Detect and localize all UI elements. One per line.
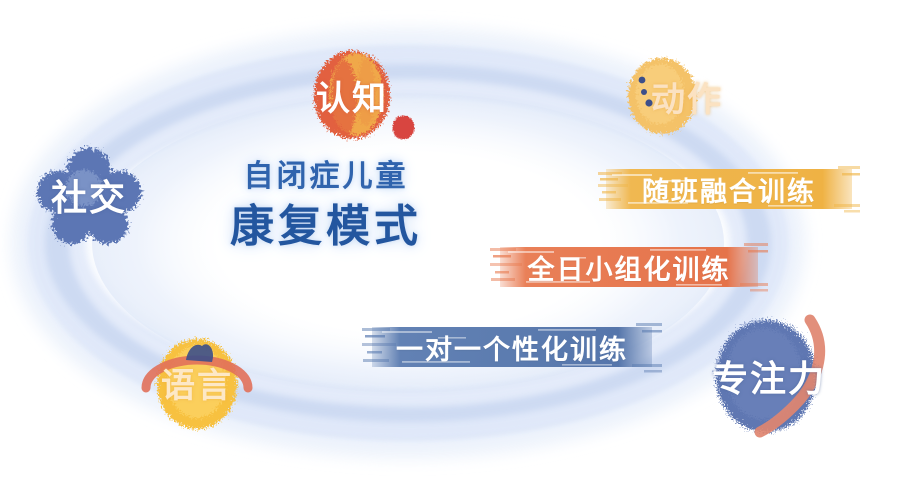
infographic-canvas: 自闭症儿童 康复模式 (0, 0, 900, 495)
banner-label: 随班融合训练 (642, 170, 816, 209)
node-social[interactable]: 社交 (26, 140, 152, 250)
node-attention[interactable]: 专注力 (698, 310, 840, 442)
banner-label: 一对一个性化训练 (396, 328, 628, 367)
banner-fullday-group-training[interactable]: 全日小组化训练 (490, 238, 768, 296)
node-label: 认知 (316, 71, 388, 120)
node-label: 社交 (51, 169, 127, 221)
node-label: 语言 (161, 358, 233, 407)
node-language[interactable]: 语言 (136, 330, 258, 434)
banner-label: 全日小组化训练 (528, 248, 731, 287)
node-label: 专注力 (712, 350, 826, 402)
node-motor[interactable]: 动作 (622, 48, 738, 144)
banner-one-to-one-training[interactable]: 一对一个性化训练 (362, 318, 662, 376)
red-dot-accent (391, 114, 416, 141)
node-label: 动作 (651, 72, 723, 121)
banner-inclusive-training[interactable]: 随班融合训练 (598, 160, 860, 218)
